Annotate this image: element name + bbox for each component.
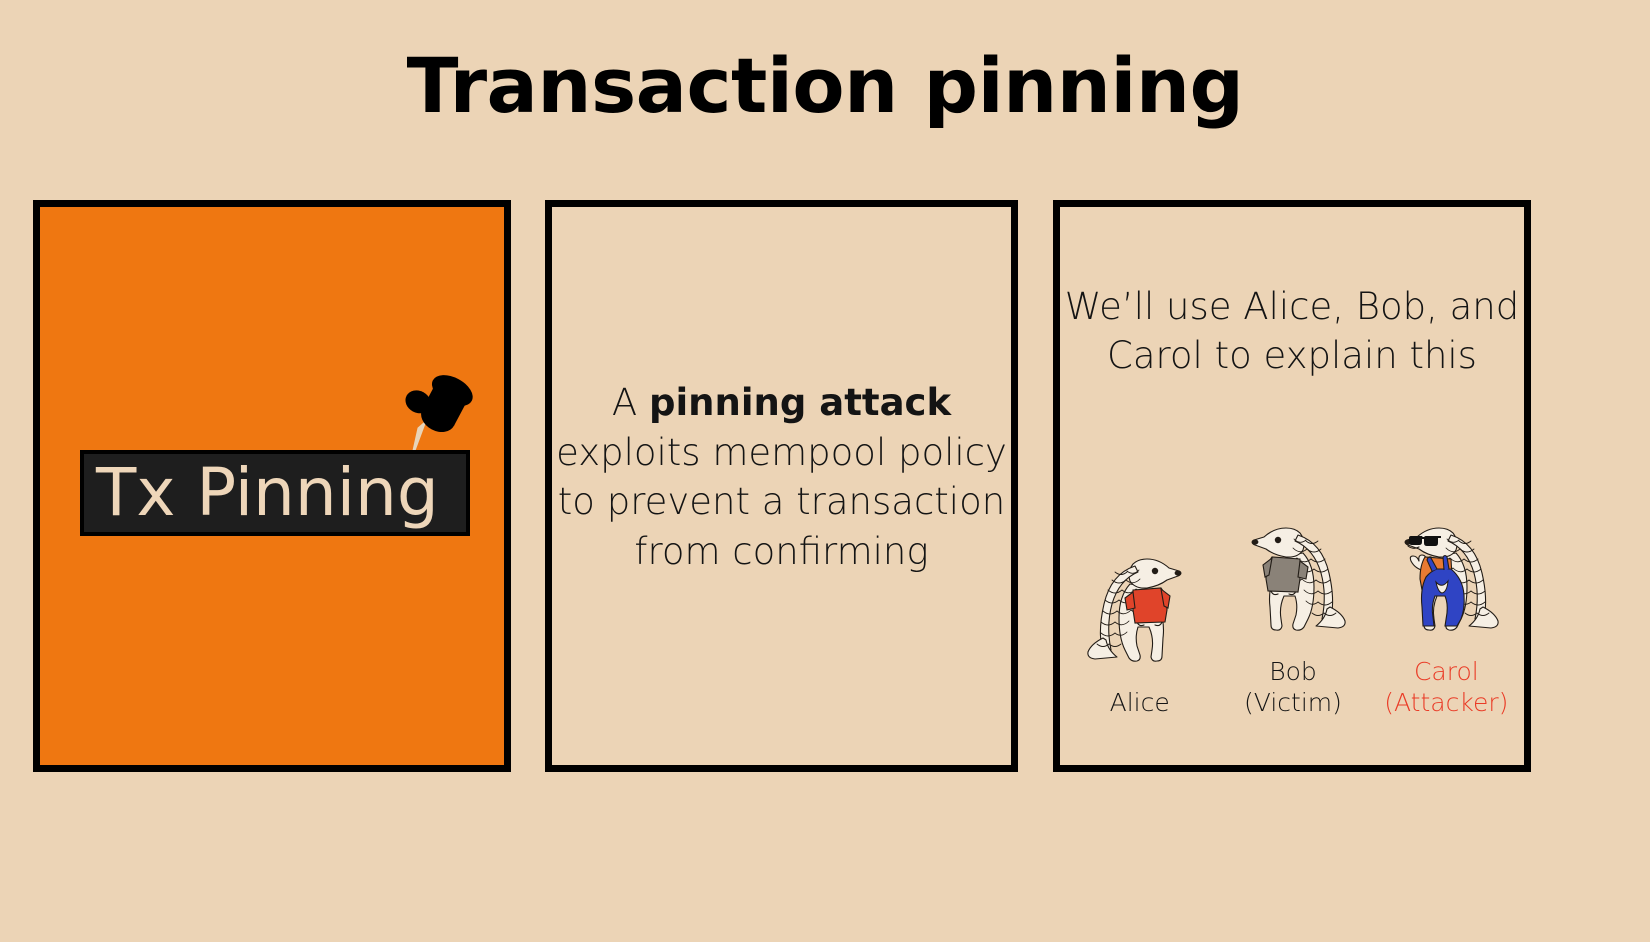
cast-label-alice: Alice <box>1110 687 1170 718</box>
tx-pinning-badge: Tx Pinning <box>80 450 470 536</box>
pangolin-carol-icon <box>1381 495 1511 640</box>
cast-name-alice: Alice <box>1110 688 1170 717</box>
cast-member-carol: Carol (Attacker) <box>1371 495 1521 719</box>
definition-text: A pinning attack exploits mempool policy… <box>545 378 1018 576</box>
cast-intro-text: We’ll use Alice, Bob, and Carol to expla… <box>1053 283 1531 381</box>
sunglasses-icon <box>1409 536 1441 546</box>
cast-label-carol: Carol (Attacker) <box>1384 656 1508 719</box>
definition-lead: A <box>612 381 649 424</box>
definition-emphasis: pinning attack <box>649 381 951 424</box>
cast-name-carol: Carol <box>1414 657 1479 686</box>
cast-name-bob: Bob <box>1269 657 1317 686</box>
cast-list: Alice <box>1063 495 1523 719</box>
tx-pinning-card: Tx Pinning <box>33 200 511 772</box>
cast-member-bob: Bob (Victim) <box>1218 495 1368 719</box>
pangolin-alice-icon <box>1075 526 1205 671</box>
tx-pinning-badge-label: Tx Pinning <box>84 460 439 526</box>
cast-role-carol: (Attacker) <box>1384 687 1508 718</box>
cast-label-bob: Bob (Victim) <box>1244 656 1342 719</box>
cast-role-bob: (Victim) <box>1244 687 1342 718</box>
definition-rest: exploits mempool policy to prevent a tra… <box>556 431 1007 573</box>
page-title: Transaction pinning <box>0 46 1650 126</box>
cast-member-alice: Alice <box>1065 526 1215 718</box>
slide-canvas: Transaction pinning Tx Pinning A pinning… <box>0 0 1650 942</box>
pangolin-bob-icon <box>1228 495 1358 640</box>
